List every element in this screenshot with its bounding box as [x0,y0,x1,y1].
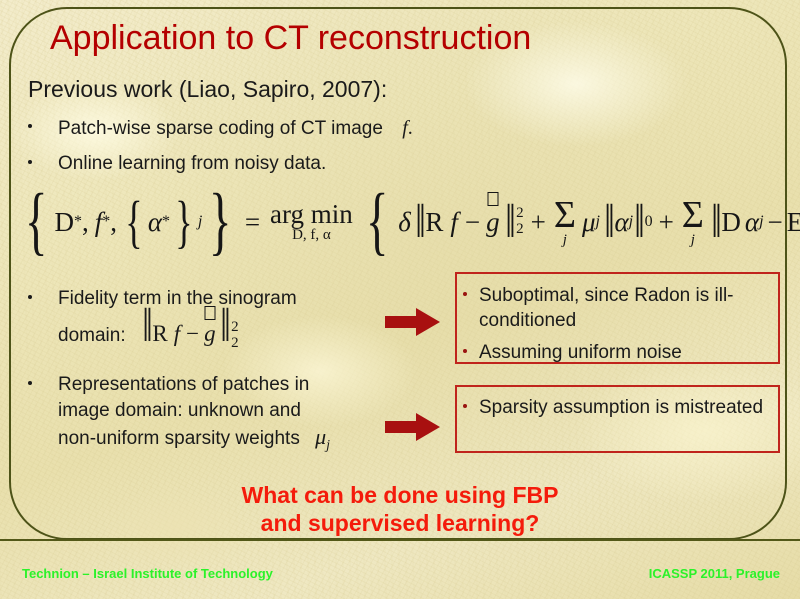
equation-summation-1: Σ j [554,197,576,247]
equation-inner-open-brace: { [125,202,142,243]
list-item-label: Online learning from noisy data. [58,152,326,176]
equation-alpha-index-j: j [629,213,633,231]
norm-bar-open-1: ‖ [415,208,424,237]
equation-inner-close-brace: } [175,202,192,243]
equation-summation-2: Σ j [682,197,704,247]
list-item: Online learning from noisy data. [28,152,326,176]
equation-close-brace: } [209,195,232,248]
equation-R: R [425,207,443,238]
bullet-dot-icon [28,160,32,164]
equation-star-3: * [162,213,170,231]
equation-E: E [787,207,800,238]
arrow-right-icon [385,412,441,442]
formula-R: R [152,321,167,346]
callout-list-item: Suboptimal, since Radon is ill-condition… [479,283,770,333]
equation-minus-1: − [465,207,480,238]
list-item-label-line2: image domain: unknown and [58,398,368,424]
symbol-mu-index-j: j [326,438,330,453]
missing-glyph-box-icon [487,192,498,206]
sum-glyph-2: Σ [682,197,704,233]
callout-list-item: Sparsity assumption is mistreated [479,395,770,420]
callout-item-label: Suboptimal, since Radon is ill-condition… [479,285,734,331]
callout-item-label: Sparsity assumption is mistreated [479,397,763,418]
equation-mu-index-j: j [596,213,600,231]
formula-g-tilde: g [204,321,216,347]
list-item: Fidelity term in the sinogram domain: ‖R… [28,286,368,351]
question-line-1: What can be done using FBP [0,481,800,509]
sum-index-2: j [691,233,695,247]
equation-plus-1: + [531,207,546,238]
bullet-dot-icon [463,292,467,296]
norm-subsup-1: 2 2 [516,206,524,238]
equation-g: g [486,207,500,237]
list-item: Representations of patches in image doma… [28,372,368,459]
equation-alpha-index-j-2: j [759,213,763,231]
fidelity-norm-formula: ‖Rf−g‖22 [141,321,239,346]
slide-subtitle: Previous work (Liao, Sapiro, 2007): [28,75,387,103]
formula-norm-subsup: 22 [231,320,239,352]
equation-minus-2: − [768,207,783,238]
sum-glyph-1: Σ [554,197,576,233]
fidelity-formula-row: domain: ‖Rf−g‖22 [58,312,368,351]
norm-bar-open-f: ‖ [142,312,151,341]
norm-subscript-1: 2 [516,222,524,238]
question-line-2: and supervised learning? [0,509,800,537]
equation-comma-1: , [82,207,89,238]
list-item-label-line3-row: non-uniform sparsity weights μj [58,424,368,459]
list-item-label: Patch-wise sparse coding of CT image [58,117,383,141]
callout-item-label: Assuming uniform noise [479,342,682,363]
main-equation: { D*, f*, { α* }j } = arg min D, f, α { … [18,186,788,258]
equation-comma-2: , [110,207,117,238]
formula-norm-subscript: 2 [231,336,239,352]
bullet-dot-icon [463,404,467,408]
list-item: Patch-wise sparse coding of CT image f. [28,116,413,141]
equation-argmin-operator: arg min D, f, α [270,201,353,243]
closing-question: What can be done using FBP and supervise… [0,481,800,537]
norm-bar-close-2: ‖ [634,208,643,237]
norm-bar-open-3: ‖ [711,208,720,237]
equation-open-brace: { [25,195,48,248]
footer-institution: Technion – Israel Institute of Technolog… [22,565,273,583]
list-item-label-line3: non-uniform sparsity weights [58,428,300,449]
domain-label: domain: [58,325,126,346]
page-title: Application to CT reconstruction [50,18,750,58]
norm-exponent-1: 2 [516,206,524,222]
slide: Application to CT reconstruction Previou… [0,0,800,599]
sum-index-1: j [563,233,567,247]
footer-conference: ICASSP 2011, Prague [649,565,780,583]
equation-f: f [95,207,103,238]
equation-body-open-brace: { [366,195,389,248]
equation-delta: δ [398,207,411,238]
norm-bar-open-2: ‖ [604,208,613,237]
arrow-right-icon [385,307,441,337]
equation-alpha-3: α [745,207,759,238]
callout-box: Sparsity assumption is mistreated [455,385,780,453]
bullet-dot-icon [463,349,467,353]
equation-g-tilde: g [486,207,500,238]
equation-index-j-1: j [198,213,202,231]
argmin-subscript: D, f, α [292,228,331,243]
norm-bar-close-1: ‖ [505,208,514,237]
equation-D: D [54,207,74,238]
norm-bar-close-f: ‖ [220,312,229,341]
period-after-symbol: . [408,117,413,139]
formula-g: g [204,321,216,346]
formula-f: f [174,321,180,346]
equation-alpha: α [148,207,162,238]
bullet-dot-icon [28,124,32,128]
equation-plus-2: + [659,207,674,238]
formula-norm-exponent: 2 [231,320,239,336]
missing-glyph-box-icon [204,306,215,320]
norm-subscript-zero: 0 [645,213,653,231]
equation-D-2: D [721,207,741,238]
equation-star-2: * [102,213,110,231]
equation-alpha-2: α [614,207,628,238]
formula-minus: − [186,321,199,346]
list-item-label-line1: Representations of patches in [58,372,368,398]
bullet-dot-icon [28,295,32,299]
footer-divider-line [0,539,800,541]
equation-equals: = [245,207,260,238]
callout-box: Suboptimal, since Radon is ill-condition… [455,272,780,364]
argmin-main: arg min [270,201,353,228]
equation-mu: μ [582,207,596,238]
equation-f-2: f [450,207,458,238]
callout-list-item: Assuming uniform noise [479,340,770,365]
bullet-dot-icon [28,381,32,385]
equation-star-1: * [74,213,82,231]
symbol-mu: μ [315,424,326,449]
